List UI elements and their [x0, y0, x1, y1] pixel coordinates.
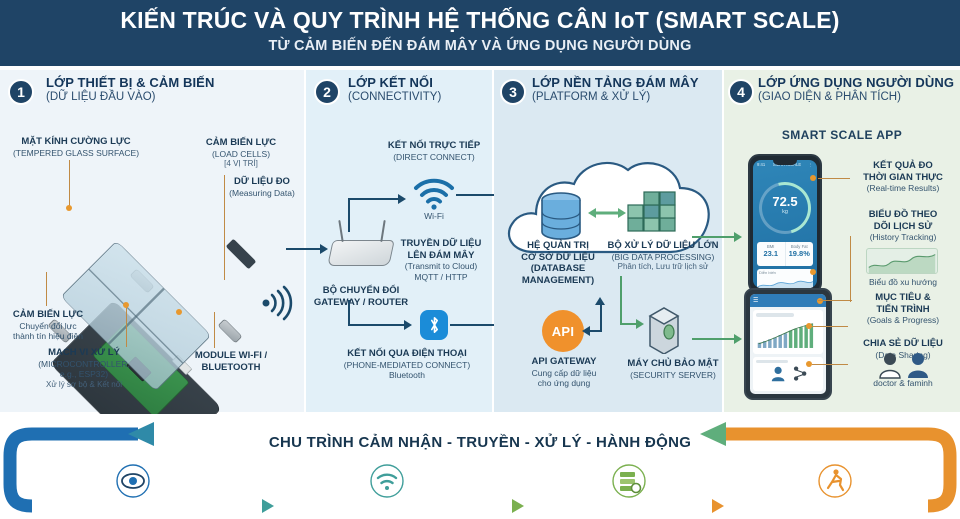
arrow-head-icon: [320, 244, 328, 254]
api-gateway-icon: API: [542, 310, 584, 352]
leader-line: [46, 272, 47, 306]
database-icon: [540, 192, 582, 240]
phone-menu-icon[interactable]: ⋮: [809, 162, 813, 167]
label-phone-mediated: KẾT NỐI QUA ĐIỆN THOẠI (PHONE-MEDIATED C…: [314, 348, 500, 381]
page-title: KIẾN TRÚC VÀ QUY TRÌNH HỆ THỐNG CÂN IoT …: [0, 7, 960, 34]
label-measuring-data: DỮ LIỆU ĐO (Measuring Data): [214, 176, 310, 198]
label-wifi-bluetooth-module: MODULE WI-FI / BLUETOOTH: [176, 350, 286, 373]
layer-2-title: LỚP KẾT NỐI: [348, 75, 441, 90]
layer-3-title: LỚP NỀN TẢNG ĐÁM MÂY: [532, 75, 699, 90]
arrow-head-icon: [404, 320, 412, 330]
hamburger-menu-icon[interactable]: ☰: [753, 297, 758, 304]
layer-1-number: 1: [8, 79, 34, 105]
load-cell-icon: [218, 319, 243, 344]
arrow-head-icon: [398, 194, 406, 204]
cycle-title: CHU TRÌNH CẢM NHẬN - TRUYỀN - XỬ LÝ - HÀ…: [0, 434, 960, 451]
arrow-cloud-to-phone: [692, 236, 738, 238]
layer-4-title: LỚP ỨNG DỤNG NGƯỜI DÙNG: [758, 75, 954, 90]
leader-line: [818, 178, 850, 179]
layer-4-number: 4: [728, 79, 754, 105]
label-goals-progress: MỤC TIÊU & TIẾN TRÌNH (Goals & Progress): [848, 292, 958, 326]
weight-unit: kg: [753, 209, 817, 215]
layer-2-header: 2 LỚP KẾT NỐI (CONNECTIVITY): [306, 70, 492, 116]
leader-line: [214, 312, 215, 348]
tablet-progress-card: [753, 310, 823, 354]
label-wifi: Wi-Fi: [408, 211, 460, 222]
layer-3-number: 3: [500, 79, 526, 105]
wifi-icon: [370, 464, 404, 498]
leader-dot: [810, 175, 816, 181]
cycle-step-process: [612, 464, 646, 498]
label-load-cell-detail: CẢM BIẾN LỰC Chuyển đổi lực thành tín hi…: [2, 309, 94, 342]
label-load-cells: CẢM BIẾN LỰC (LOAD CELLS) [4 VỊ TRÍ]: [186, 137, 296, 169]
label-doctor-family: doctor & faminh: [846, 378, 960, 389]
label-tempered-glass: MẶT KÍNH CƯỜNG LỰC (TEMPERED GLASS SURFA…: [6, 136, 146, 158]
branch-line-to-wifi: [348, 198, 400, 200]
layer-2-number: 2: [314, 79, 340, 105]
layer-1-subtitle: (DỮ LIỆU ĐẦU VÀO): [46, 90, 214, 104]
phone-trend-chart: Diễn biến: [757, 269, 813, 288]
share-people-icon: [756, 365, 820, 383]
tablet-app-bar: ☰: [750, 294, 826, 307]
label-history-tracking: BIỂU ĐỒ THEO DÕI LỊCH SỬ (History Tracki…: [848, 209, 958, 243]
tablet-device[interactable]: ☰: [744, 288, 832, 400]
layer-3-subtitle: (PLATFORM & XỬ LÝ): [532, 90, 699, 104]
leader-dot: [806, 323, 812, 329]
eye-sensor-icon: [116, 464, 150, 498]
cycle-step-act: [818, 464, 852, 498]
cycle-step-sense: [116, 464, 150, 498]
big-data-blocks-icon: [626, 188, 678, 240]
infographic-root: KIẾN TRÚC VÀ QUY TRÌNH HỆ THỐNG CÂN IoT …: [0, 0, 960, 519]
wifi-icon: [412, 176, 456, 210]
layer-3-header: 3 LỚP NỀN TẢNG ĐÁM MÂY (PLATFORM & XỬ LÝ…: [494, 70, 722, 116]
arrow-device-to-gateway: [286, 248, 322, 250]
cycle-step-transmit: [370, 464, 404, 498]
leader-line: [812, 326, 848, 327]
metric-body-fat: Body Fat 19.8%: [785, 242, 814, 266]
arrow-head-icon: [734, 334, 742, 344]
smart-scale-app-title: SMART SCALE APP: [724, 128, 960, 142]
leader-dot: [66, 205, 72, 211]
leader-dot: [123, 302, 129, 308]
layer-4-header: 4 LỚP ỨNG DỤNG NGƯỜI DÙNG (GIAO DIỆN & P…: [724, 70, 960, 116]
tablet-sharing-card: [753, 357, 823, 391]
leader-dot: [810, 269, 816, 275]
arrow-head-icon: [582, 326, 590, 336]
leader-line: [818, 300, 852, 301]
label-direct-connect: KẾT NỐI TRỰC TIẾP (DIRECT CONNECT): [368, 140, 500, 162]
arrow-head-icon: [636, 319, 644, 329]
bidirectional-arrow-icon: [588, 205, 626, 221]
running-person-icon: [818, 464, 852, 498]
page-subtitle: TỪ CẢM BIẾN ĐẾN ĐÁM MÂY VÀ ỨNG DỤNG NGƯỜ…: [0, 38, 960, 54]
branch-line-down: [348, 300, 350, 326]
leader-dot: [176, 309, 182, 315]
label-big-data-processing: BỘ XỬ LÝ DỮ LIỆU LỚN (BIG DATA PROCESSIN…: [604, 240, 722, 272]
label-gateway-router: BỘ CHUYỂN ĐỔI GATEWAY / ROUTER: [306, 285, 416, 308]
cycle-section: CHU TRÌNH CẢM NHẬN - TRUYỀN - XỬ LÝ - HÀ…: [0, 414, 960, 519]
tablet-screen[interactable]: ☰: [750, 294, 826, 394]
label-api-gateway: API GATEWAY Cung cấp dữ liệu cho ứng dụn…: [506, 356, 622, 389]
layer-1-title: LỚP THIẾT BỊ & CẢM BIẾN: [46, 75, 214, 90]
label-transmit-to-cloud: TRUYỀN DỮ LIỆU LÊN ĐÁM MÂY (Transmit to …: [386, 238, 496, 282]
arrow-security-to-tablet: [692, 338, 738, 340]
server-gear-icon: [612, 464, 646, 498]
weight-value: 72.5: [753, 194, 817, 209]
layer-4-subtitle: (GIAO DIỆN & PHÂN TÍCH): [758, 90, 954, 104]
leader-line: [126, 305, 127, 347]
glass-electrode-pad: [226, 239, 257, 270]
leader-line: [69, 160, 70, 208]
label-microcontroller: MẠCH VI XỬ LÝ (MICROCONTROLLER, e.g., ES…: [22, 347, 146, 390]
security-server-icon: [644, 304, 684, 354]
bluetooth-icon: [420, 310, 448, 340]
leader-dot: [806, 361, 812, 367]
wireless-waves-icon: [258, 282, 300, 324]
branch-line-up: [348, 198, 350, 232]
metric-bmi: BMI 23.1: [757, 242, 785, 266]
label-realtime-results: KẾT QUẢ ĐO THỜI GIAN THỰC (Real-time Res…: [848, 160, 958, 194]
metrics-card: BMI 23.1 Body Fat 19.8%: [757, 242, 813, 266]
phone-notch: [773, 160, 797, 165]
phone-screen[interactable]: 9:41 SMARTSCALE ⋮ 72.5 kg BMI 23.1 Body …: [753, 160, 817, 288]
label-database-management: HỆ QUẢN TRỊ CƠ SỞ DỮ LIỆU (DATABASE MANA…: [506, 240, 610, 286]
title-band: KIẾN TRÚC VÀ QUY TRÌNH HỆ THỐNG CÂN IoT …: [0, 0, 960, 66]
label-security-server: MÁY CHỦ BẢO MẬT (SECURITY SERVER): [618, 358, 728, 380]
gateway-router-icon: [327, 240, 395, 266]
arrow-head-icon: [595, 297, 605, 305]
layer-2-subtitle: (CONNECTIVITY): [348, 90, 441, 104]
doctor-family-icons: [866, 350, 942, 380]
trend-thumbnail-chart: [866, 248, 938, 274]
branch-line-to-bluetooth: [348, 324, 406, 326]
line-cloud-to-security: [620, 276, 622, 324]
layer-1-header: 1 LỚP THIẾT BỊ & CẢM BIẾN (DỮ LIỆU ĐẦU V…: [0, 70, 304, 116]
label-trend-caption: Biểu đồ xu hướng: [850, 277, 956, 288]
phone-status-time: 9:41: [757, 162, 765, 167]
arrow-head-icon: [734, 232, 742, 242]
leader-line: [812, 364, 848, 365]
trend-line-chart: [757, 276, 813, 288]
